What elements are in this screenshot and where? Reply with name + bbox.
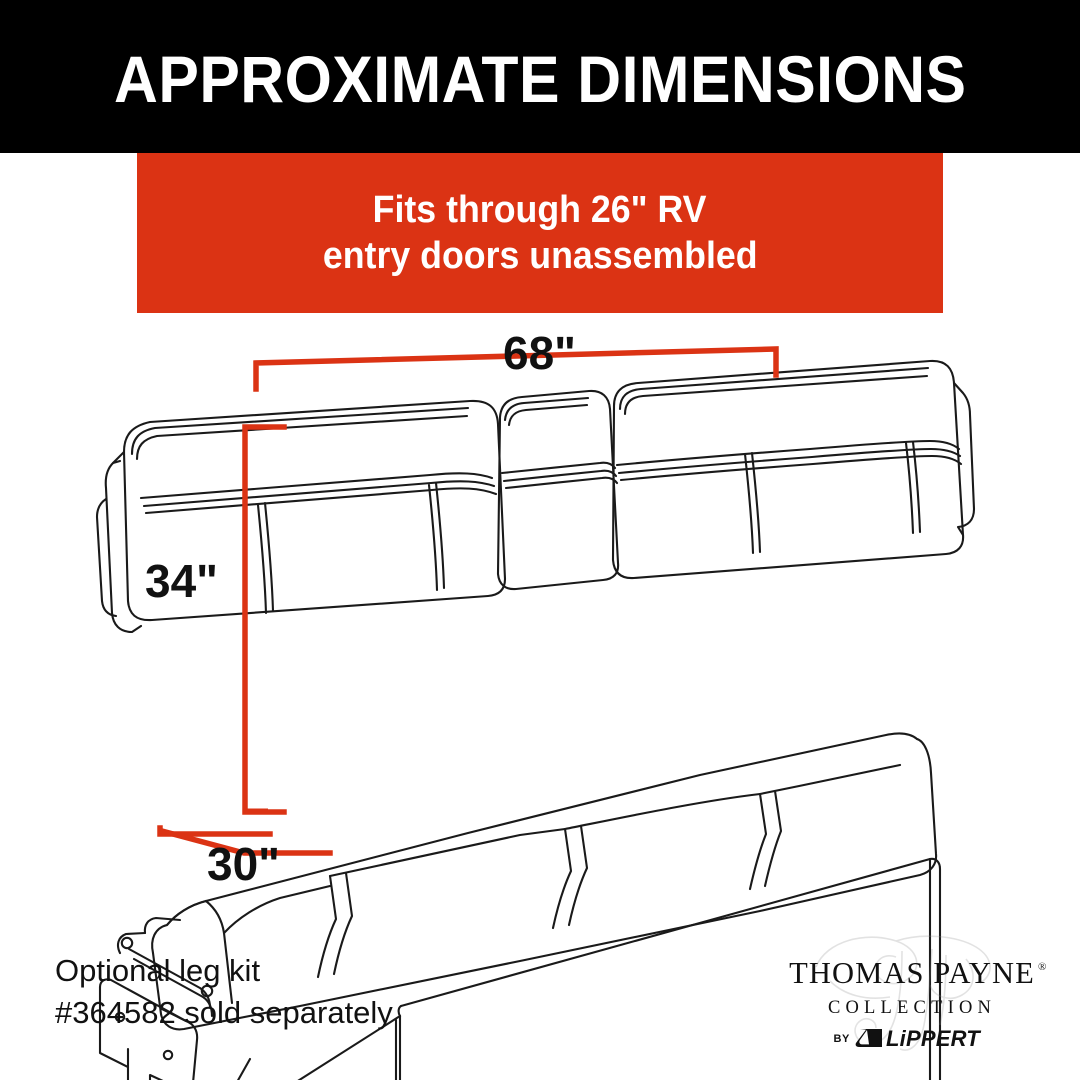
height-guide (245, 427, 284, 812)
banner-line-2: entry doors unassembled (323, 233, 758, 279)
brand-logo: THOMAS PAYNE ® COLLECTION BY LiPPERT (770, 925, 1055, 1055)
brand-collection-text: COLLECTION (828, 998, 996, 1018)
brand-parent-text: LiPPERT (886, 1026, 981, 1051)
dimension-width-label: 68" (503, 330, 576, 376)
banner-line-1: Fits through 26" RV (373, 187, 707, 233)
fit-callout-banner: Fits through 26" RV entry doors unassemb… (137, 153, 943, 313)
leg-kit-note-line-1: Optional leg kit (55, 950, 393, 992)
lippert-mark-icon (856, 1029, 882, 1047)
product-dimensions-infographic: APPROXIMATE DIMENSIONS Fits through 26" … (0, 0, 1080, 1080)
dimension-guides (160, 349, 776, 853)
leg-kit-note: Optional leg kit #364582 sold separately (55, 950, 393, 1034)
dimension-height-label: 34" (145, 558, 218, 604)
brand-trademark-text: ® (1038, 961, 1046, 973)
brand-name-text: THOMAS PAYNE (789, 956, 1035, 990)
page-title: APPROXIMATE DIMENSIONS (114, 46, 966, 112)
brand-by-text: BY (834, 1033, 851, 1045)
leg-kit-note-line-2: #364582 sold separately (55, 992, 393, 1034)
dimension-depth-label: 30" (207, 841, 280, 887)
header-bar: APPROXIMATE DIMENSIONS (0, 0, 1080, 153)
